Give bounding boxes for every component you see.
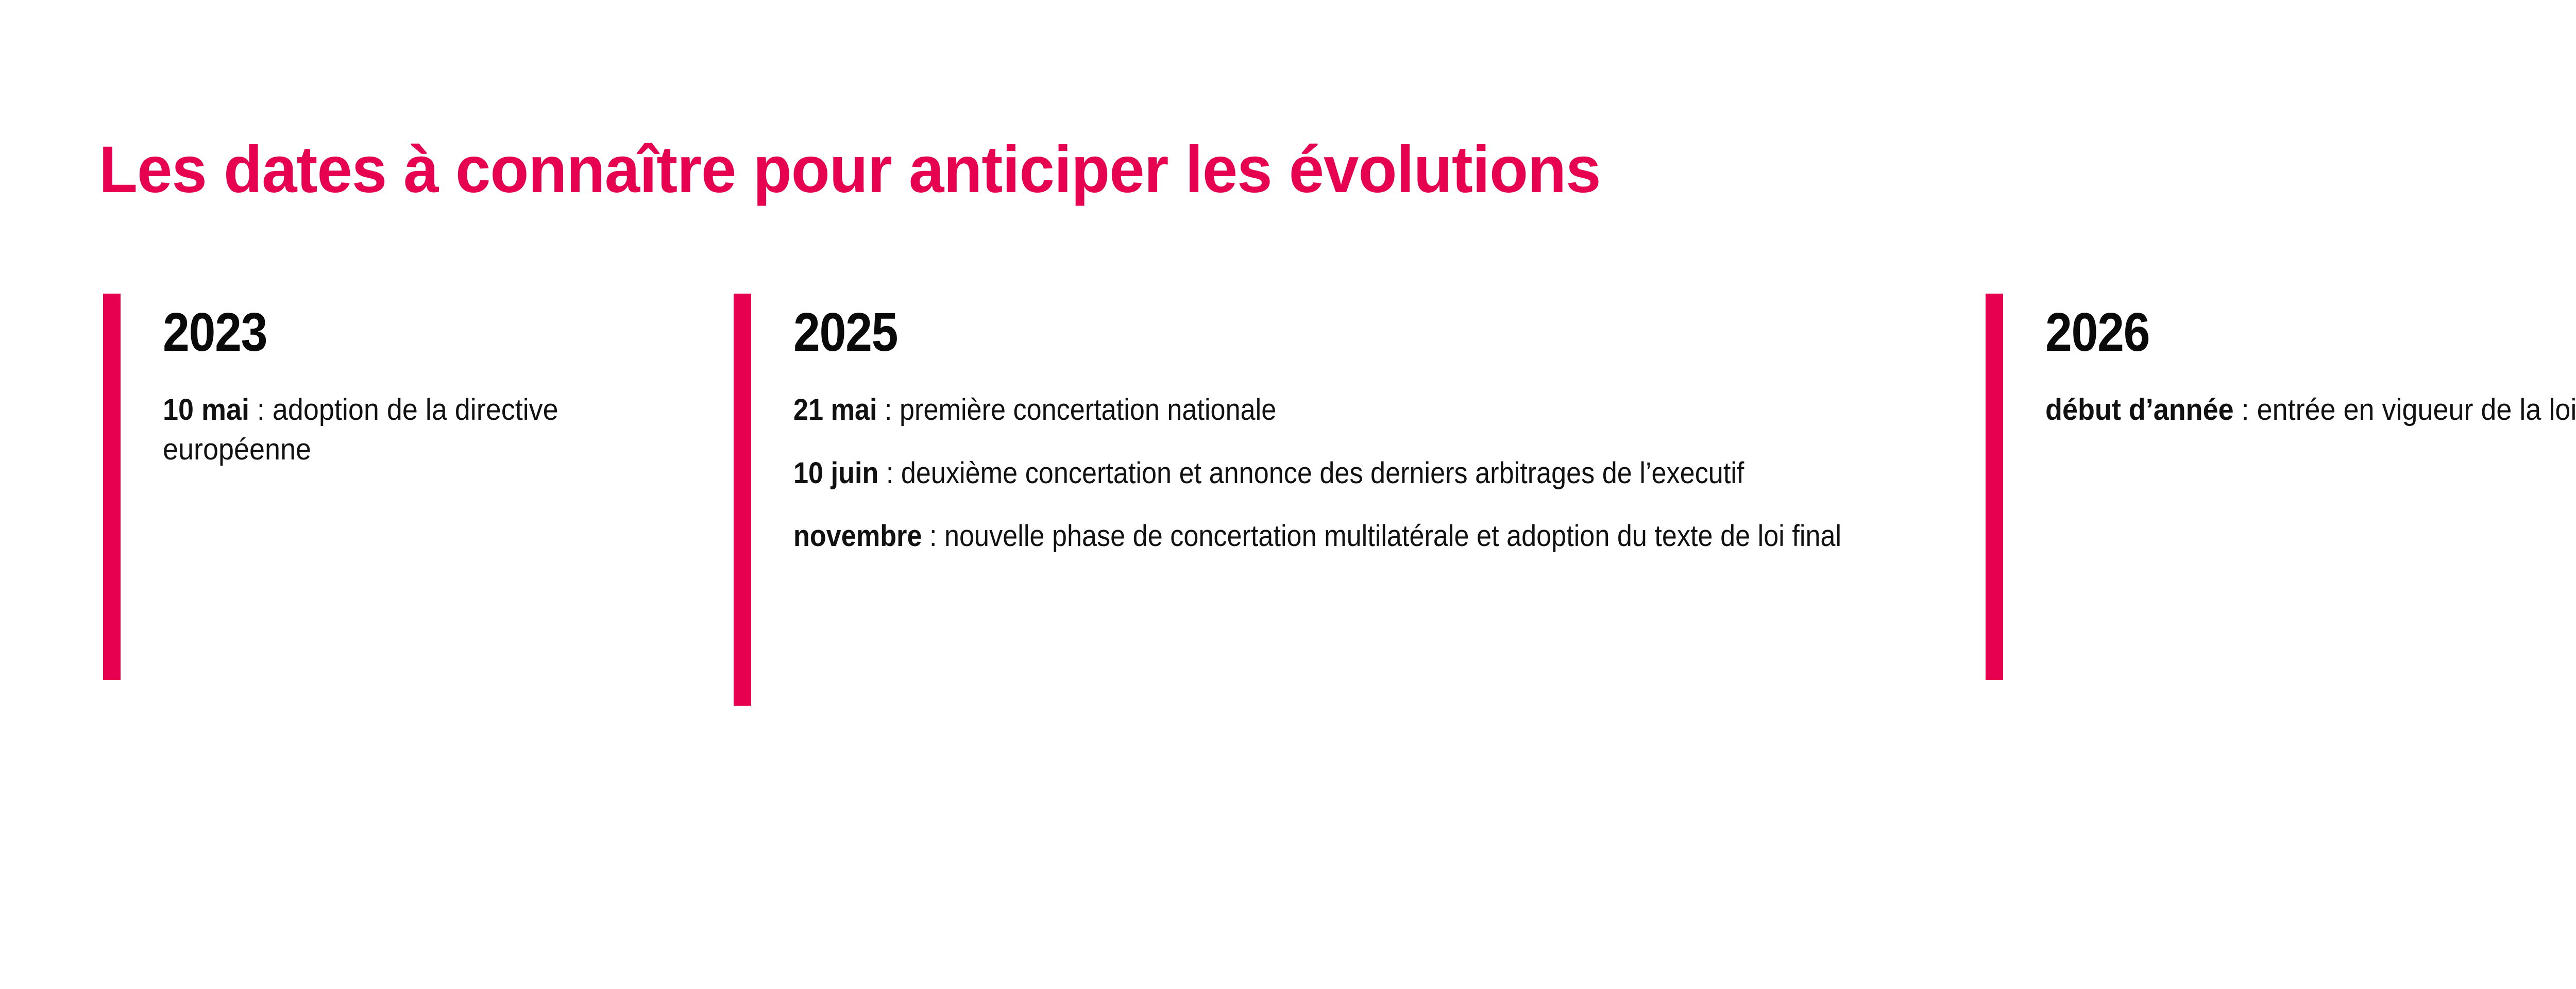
entry-lead: début d’année [2045, 393, 2234, 427]
timeline-infographic: Les dates à connaître pour anticiper les… [0, 0, 2576, 989]
timeline-entry: novembre : nouvelle phase de concertatio… [793, 517, 1843, 556]
entry-text: deuxième concertation et annonce des der… [901, 456, 1744, 490]
timeline-column-2026: 2026 début d’année : entrée en vigueur d… [1986, 286, 2576, 430]
timeline-column-2025: 2025 21 mai : première concertation nati… [734, 286, 1960, 556]
timeline-entry: 10 mai : adoption de la directive europé… [163, 390, 673, 469]
entry-lead: 10 mai [163, 393, 249, 427]
entry-separator: : [878, 456, 901, 490]
timeline-entry: 10 juin : deuxième concertation et annon… [793, 454, 1843, 493]
entry-text: première concertation nationale [900, 393, 1276, 427]
timeline-columns: 2023 10 mai : adoption de la directive e… [0, 286, 2576, 905]
page-title: Les dates à connaître pour anticiper les… [99, 137, 1601, 203]
timeline-entry: 21 mai : première concertation nationale [793, 390, 1843, 430]
timeline-column-2023: 2023 10 mai : adoption de la directive e… [103, 286, 711, 469]
entry-list: 21 mai : première concertation nationale… [793, 390, 1960, 556]
year-heading: 2023 [163, 286, 645, 360]
entry-separator: : [877, 393, 900, 427]
accent-bar [734, 294, 751, 706]
timeline-entry: début d’année : entrée en vigueur de la … [2045, 390, 2576, 430]
entry-lead: 10 juin [793, 456, 878, 490]
entry-lead: 21 mai [793, 393, 877, 427]
accent-bar [103, 294, 121, 680]
year-heading: 2025 [793, 286, 1820, 360]
entry-separator: : [249, 393, 273, 427]
entry-list: 10 mai : adoption de la directive europé… [163, 390, 711, 469]
year-heading: 2026 [2045, 286, 2576, 360]
entry-lead: novembre [793, 519, 922, 553]
entry-text: entrée en vigueur de la loi [2257, 393, 2576, 427]
entry-separator: : [922, 519, 944, 553]
entry-text: nouvelle phase de concertation multilaté… [944, 519, 1841, 553]
entry-list: début d’année : entrée en vigueur de la … [2045, 390, 2576, 430]
accent-bar [1986, 294, 2003, 680]
entry-separator: : [2234, 393, 2257, 427]
